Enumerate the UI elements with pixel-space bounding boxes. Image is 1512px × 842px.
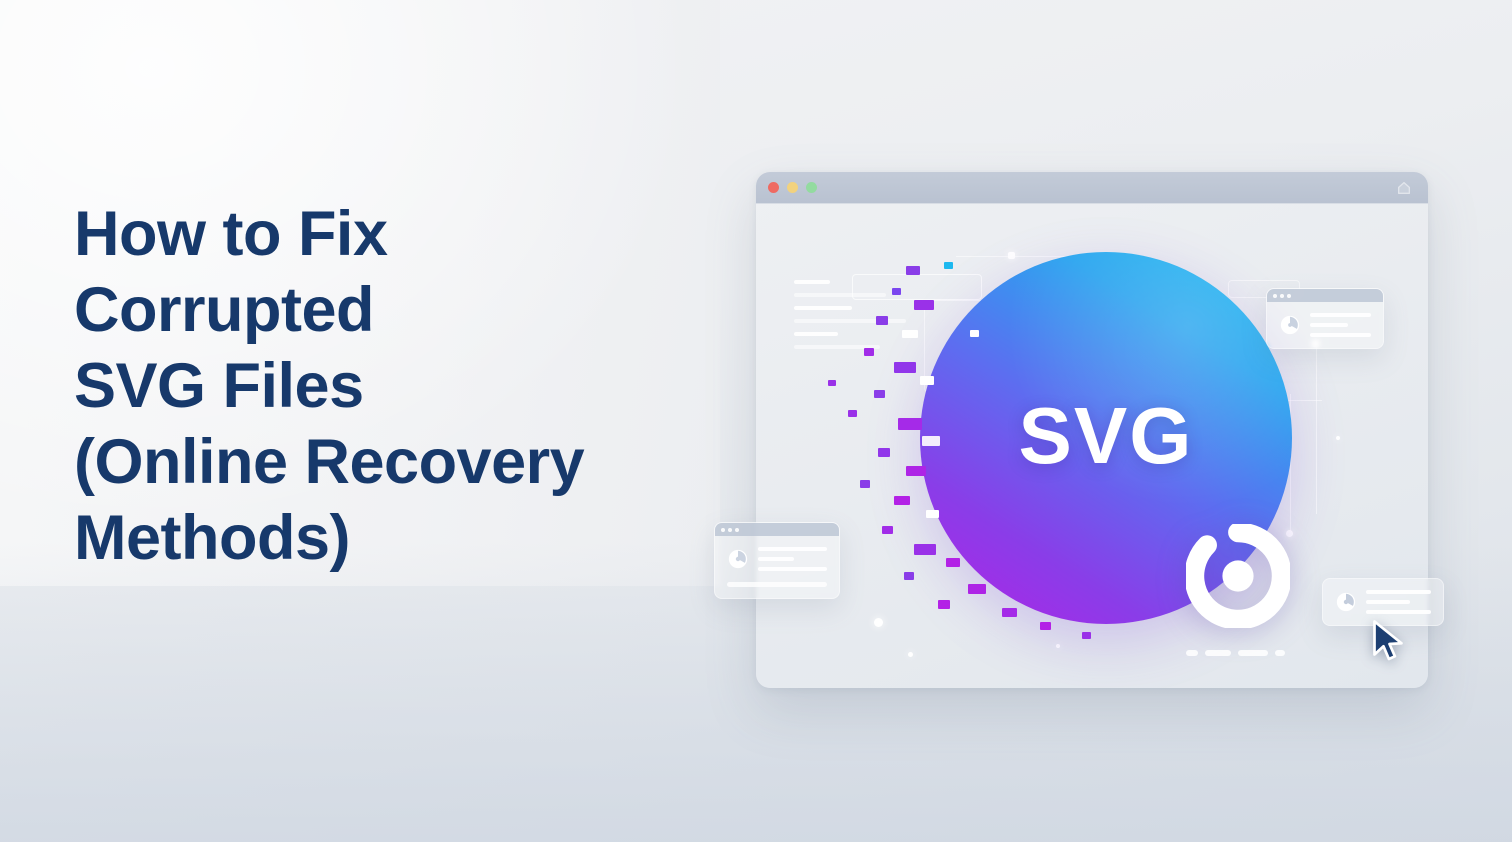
status-pill-row [1186, 650, 1285, 656]
card-body [715, 536, 839, 582]
sphere-label: SVG [920, 390, 1292, 482]
card-bottom-left[interactable] [714, 522, 840, 599]
card-titlebar [715, 523, 839, 536]
card-top-right[interactable] [1266, 288, 1384, 349]
refresh-recovery-icon[interactable] [1186, 524, 1290, 628]
gauge-chart-icon [727, 548, 749, 570]
card-text-lines [1366, 590, 1431, 614]
minimize-dot[interactable] [787, 182, 798, 193]
card-text-lines [1310, 313, 1371, 337]
wire-node [1008, 252, 1015, 259]
home-icon[interactable] [1396, 180, 1412, 196]
gauge-chart-icon [1279, 314, 1301, 336]
page-title: How to Fix Corrupted SVG Files (Online R… [74, 196, 674, 576]
card-body [1267, 302, 1383, 348]
code-placeholder-lines [794, 280, 954, 358]
gauge-chart-icon [1335, 591, 1357, 613]
mouse-pointer-cursor [1370, 618, 1406, 664]
card-text-lines [758, 547, 827, 571]
maximize-dot[interactable] [806, 182, 817, 193]
traffic-light-dots [768, 182, 817, 193]
browser-titlebar [756, 172, 1428, 204]
card-footer-bar [727, 582, 827, 587]
close-dot[interactable] [768, 182, 779, 193]
slide-canvas: How to Fix Corrupted SVG Files (Online R… [0, 0, 1512, 842]
card-titlebar [1267, 289, 1383, 302]
